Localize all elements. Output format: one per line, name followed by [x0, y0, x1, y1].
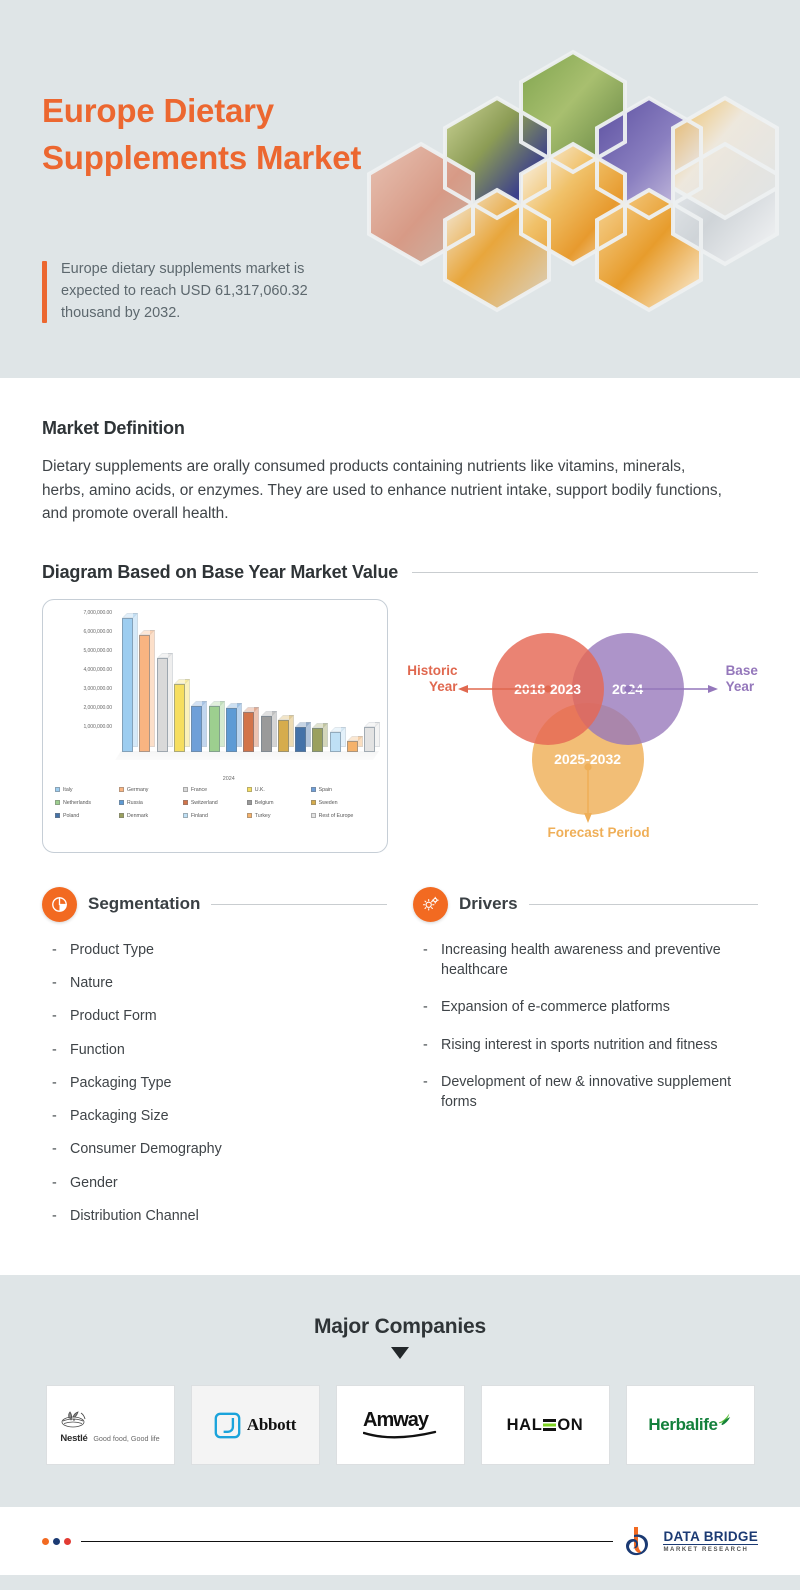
footer-rule	[81, 1541, 613, 1542]
amway-wordmark: Amway	[363, 1409, 437, 1432]
venn-label-base: Base Year	[726, 663, 774, 695]
pie-chart-icon	[42, 887, 77, 922]
chart-legend-item: Poland	[55, 813, 119, 819]
segmentation-item: -Product Form	[42, 1006, 387, 1026]
legend-label: Denmark	[127, 813, 148, 819]
bullet-dash: -	[52, 1206, 60, 1226]
bullet-dash: -	[423, 940, 431, 981]
segmentation-drivers-row: Segmentation -Product Type-Nature-Produc…	[42, 887, 758, 1240]
legend-swatch	[55, 800, 60, 805]
chart-legend-item: Belgium	[247, 800, 311, 806]
chart-legend-item: France	[183, 787, 247, 793]
legend-label: Russia	[127, 800, 143, 806]
footer-dot	[53, 1538, 60, 1545]
segmentation-item: -Product Type	[42, 940, 387, 960]
drivers-title: Drivers	[459, 894, 518, 914]
bullet-dash: -	[52, 1040, 60, 1060]
segmentation-column: Segmentation -Product Type-Nature-Produc…	[42, 887, 387, 1240]
legend-swatch	[311, 800, 316, 805]
segmentation-item: -Distribution Channel	[42, 1206, 387, 1226]
gears-icon	[413, 887, 448, 922]
legend-label: Sweden	[319, 800, 338, 806]
drivers-list: -Increasing health awareness and prevent…	[413, 940, 758, 1113]
chart-legend-item: Rest of Europe	[311, 813, 375, 819]
chart-legend-item: Russia	[119, 800, 183, 806]
segmentation-item: -Function	[42, 1040, 387, 1060]
footer-dots	[42, 1538, 71, 1545]
company-logo-nestle: Nestlé Good food, Good life	[46, 1385, 175, 1465]
bullet-text: Packaging Size	[70, 1106, 169, 1126]
segmentation-item: -Packaging Type	[42, 1073, 387, 1093]
legend-swatch	[183, 787, 188, 792]
company-logo-row: Nestlé Good food, Good life Abbott Amway	[42, 1385, 758, 1465]
footer: DATA BRIDGE MARKET RESEARCH	[0, 1507, 800, 1575]
segmentation-item: -Consumer Demography	[42, 1139, 387, 1159]
chart-bar	[154, 610, 171, 752]
chart-legend-item: Sweden	[311, 800, 375, 806]
legend-swatch	[311, 787, 316, 792]
abbott-mark-icon	[214, 1412, 241, 1439]
header-divider	[412, 572, 758, 573]
venn-diagram: 2018-2023 2024 2025-2032 Historic Year B…	[396, 599, 758, 853]
hero-subtitle-block: Europe dietary supplements market is exp…	[42, 258, 361, 324]
chart-bar	[361, 610, 378, 752]
drivers-item: -Rising interest in sports nutrition and…	[413, 1035, 758, 1055]
legend-label: Germany	[127, 787, 148, 793]
bullet-text: Gender	[70, 1173, 118, 1193]
nestle-tagline: Good food, Good life	[93, 1434, 159, 1444]
footer-dot	[64, 1538, 71, 1545]
legend-swatch	[247, 787, 252, 792]
bullet-dash: -	[423, 1035, 431, 1055]
legend-swatch	[247, 813, 252, 818]
legend-label: Poland	[63, 813, 79, 819]
legend-swatch	[55, 787, 60, 792]
legend-swatch	[183, 800, 188, 805]
data-bridge-logo: DATA BRIDGE MARKET RESEARCH	[623, 1525, 758, 1557]
bullet-text: Expansion of e-commerce platforms	[441, 997, 670, 1017]
chart-bar	[292, 610, 309, 752]
chart-legend-item: Netherlands	[55, 800, 119, 806]
chart-legend-item: Switzerland	[183, 800, 247, 806]
bullet-dash: -	[52, 973, 60, 993]
chart-bar	[309, 610, 326, 752]
legend-label: U.K.	[255, 787, 265, 793]
data-bridge-tagline: MARKET RESEARCH	[663, 1547, 758, 1553]
venn-label-historic: Historic Year	[402, 663, 458, 695]
legend-label: Rest of Europe	[319, 813, 354, 819]
market-definition-heading: Market Definition	[42, 418, 758, 439]
bullet-dash: -	[423, 1072, 431, 1113]
venn-label-forecast: Forecast Period	[524, 825, 674, 841]
bar-chart-card: 1,000,000.002,000,000.003,000,000.004,00…	[42, 599, 388, 853]
legend-label: Spain	[319, 787, 332, 793]
chart-y-tick: 7,000,000.00	[83, 610, 112, 616]
chart-bar	[344, 610, 361, 752]
chart-y-tick: 3,000,000.00	[83, 686, 112, 692]
hero-subtitle: Europe dietary supplements market is exp…	[61, 258, 361, 324]
chart-legend: ItalyGermanyFranceU.K.SpainNetherlandsRu…	[49, 787, 379, 819]
drivers-item: -Development of new & innovative supplem…	[413, 1072, 758, 1113]
chart-plot-area: 1,000,000.002,000,000.003,000,000.004,00…	[49, 610, 379, 778]
chart-bar	[327, 610, 344, 752]
herbalife-wordmark: Herbalife	[648, 1415, 717, 1435]
venn-connectors	[396, 599, 771, 853]
bullet-dash: -	[52, 1173, 60, 1193]
drivers-column: Drivers -Increasing health awareness and…	[413, 887, 758, 1240]
segmentation-title: Segmentation	[88, 894, 200, 914]
chart-legend-item: Germany	[119, 787, 183, 793]
legend-label: Finland	[191, 813, 208, 819]
bullet-text: Consumer Demography	[70, 1139, 222, 1159]
bullet-dash: -	[52, 1106, 60, 1126]
diagram-row: 1,000,000.002,000,000.003,000,000.004,00…	[42, 599, 758, 853]
drivers-item: -Expansion of e-commerce platforms	[413, 997, 758, 1017]
chart-bar	[205, 610, 222, 752]
footer-dot	[42, 1538, 49, 1545]
diagram-section-header: Diagram Based on Base Year Market Value	[42, 562, 758, 583]
data-bridge-mark-icon	[623, 1525, 657, 1557]
segmentation-item: -Packaging Size	[42, 1106, 387, 1126]
drivers-divider	[529, 904, 758, 905]
bullet-text: Nature	[70, 973, 113, 993]
legend-label: Netherlands	[63, 800, 91, 806]
bullet-text: Rising interest in sports nutrition and …	[441, 1035, 718, 1055]
segmentation-item: -Nature	[42, 973, 387, 993]
page-title: Europe Dietary Supplements Market	[42, 88, 382, 182]
herbalife-leaf-icon	[716, 1410, 732, 1426]
drivers-header: Drivers	[413, 887, 758, 922]
legend-swatch	[119, 800, 124, 805]
hexagon-collage-svg	[345, 38, 800, 338]
haleon-e-icon	[543, 1418, 556, 1432]
bullet-text: Product Type	[70, 940, 154, 960]
chart-bar	[257, 610, 274, 752]
chart-bar	[188, 610, 205, 752]
chart-y-tick: 5,000,000.00	[83, 648, 112, 654]
chart-y-tick: 1,000,000.00	[83, 724, 112, 730]
major-companies-title: Major Companies	[42, 1315, 758, 1339]
nestle-bird-nest-icon	[60, 1407, 88, 1429]
chart-legend-item: Turkey	[247, 813, 311, 819]
accent-bar	[42, 261, 47, 323]
chart-legend-item: Italy	[55, 787, 119, 793]
bullet-text: Development of new & innovative suppleme…	[441, 1072, 758, 1113]
bullet-text: Distribution Channel	[70, 1206, 199, 1226]
chart-bar	[119, 610, 136, 752]
chart-y-axis: 1,000,000.002,000,000.003,000,000.004,00…	[49, 610, 115, 762]
major-companies-section: Major Companies	[0, 1275, 800, 1507]
company-logo-haleon: HAL ON HALEON	[481, 1385, 610, 1465]
segmentation-item: -Gender	[42, 1173, 387, 1193]
chart-y-tick: 4,000,000.00	[83, 667, 112, 673]
legend-label: Italy	[63, 787, 72, 793]
diagram-heading: Diagram Based on Base Year Market Value	[42, 562, 398, 583]
chart-bar	[275, 610, 292, 752]
chart-legend-item: U.K.	[247, 787, 311, 793]
bullet-dash: -	[52, 1139, 60, 1159]
bullet-text: Increasing health awareness and preventi…	[441, 940, 758, 981]
bullet-dash: -	[52, 940, 60, 960]
bullet-text: Function	[70, 1040, 125, 1060]
bullet-text: Packaging Type	[70, 1073, 171, 1093]
chart-legend-item: Finland	[183, 813, 247, 819]
data-bridge-text: DATA BRIDGE MARKET RESEARCH	[663, 1530, 758, 1554]
bullet-text: Product Form	[70, 1006, 157, 1026]
market-definition-body: Dietary supplements are orally consumed …	[42, 455, 730, 526]
bullet-dash: -	[52, 1073, 60, 1093]
segmentation-list: -Product Type-Nature-Product Form-Functi…	[42, 940, 387, 1227]
abbott-wordmark: Abbott	[247, 1415, 296, 1435]
chart-legend-item: Spain	[311, 787, 375, 793]
chart-y-tick: 6,000,000.00	[83, 629, 112, 635]
legend-swatch	[119, 787, 124, 792]
bullet-dash: -	[423, 997, 431, 1017]
chart-legend-item: Denmark	[119, 813, 183, 819]
main-content: Market Definition Dietary supplements ar…	[0, 418, 800, 1239]
drivers-item: -Increasing health awareness and prevent…	[413, 940, 758, 981]
caret-down-icon	[391, 1347, 409, 1359]
legend-label: Switzerland	[191, 800, 218, 806]
legend-label: Turkey	[255, 813, 271, 819]
data-bridge-name: DATA BRIDGE	[663, 1530, 758, 1546]
bullet-dash: -	[52, 1006, 60, 1026]
chart-bar	[240, 610, 257, 752]
chart-bar	[223, 610, 240, 752]
company-logo-amway: Amway	[336, 1385, 465, 1465]
legend-label: Belgium	[255, 800, 274, 806]
hexagon-image-collage	[345, 38, 800, 338]
legend-swatch	[311, 813, 316, 818]
company-logo-abbott: Abbott	[191, 1385, 320, 1465]
chart-floor	[115, 751, 379, 760]
legend-swatch	[183, 813, 188, 818]
legend-swatch	[55, 813, 60, 818]
segmentation-divider	[211, 904, 387, 905]
chart-bars	[115, 610, 379, 762]
chart-bar	[136, 610, 153, 752]
legend-label: France	[191, 787, 207, 793]
hero-banner: Europe Dietary Supplements Market Europe…	[0, 0, 800, 378]
nestle-wordmark: Nestlé	[60, 1433, 88, 1444]
company-logo-herbalife: Herbalife	[626, 1385, 755, 1465]
legend-swatch	[247, 800, 252, 805]
chart-y-tick: 2,000,000.00	[83, 705, 112, 711]
footer-bottom-strip	[0, 1575, 800, 1590]
chart-bar	[171, 610, 188, 752]
segmentation-header: Segmentation	[42, 887, 387, 922]
legend-swatch	[119, 813, 124, 818]
